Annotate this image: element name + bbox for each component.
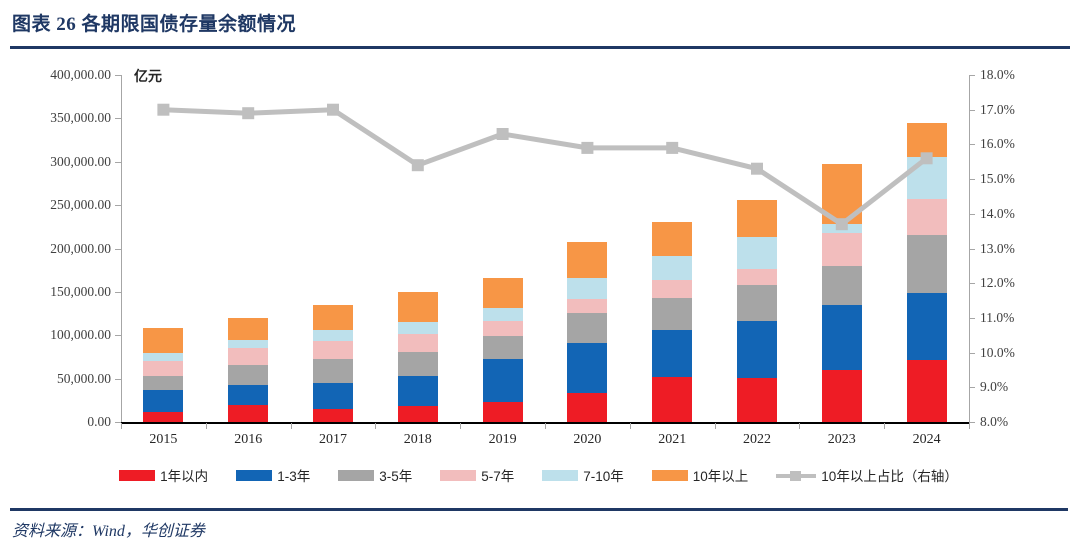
page-title: 图表 26 各期限国债存量余额情况	[12, 9, 296, 36]
x-axis-tick-label: 2023	[828, 432, 856, 448]
legend-item[interactable]: 1年以内	[119, 465, 208, 485]
legend-item[interactable]: 1-3年	[236, 465, 310, 485]
y-axis-right-tick-mark	[969, 283, 975, 284]
x-axis-tick-mark	[291, 423, 292, 429]
y-axis-right-tick-mark	[969, 179, 975, 180]
legend-item[interactable]: 3-5年	[338, 465, 412, 485]
y-axis-right-tick-label: 10.0%	[980, 345, 1015, 361]
y-axis-left-tick-label: 350,000.00	[50, 110, 111, 126]
line-marker[interactable]	[327, 104, 339, 116]
source-note: 资料来源：Wind，华创证券	[12, 517, 205, 541]
percentage-line-series	[121, 75, 969, 423]
y-axis-left-tick-label: 50,000.00	[57, 371, 111, 387]
x-axis-tick-label: 2021	[658, 432, 686, 448]
chart-canvas: 亿元 0.0050,000.00100,000.00150,000.00200,…	[8, 58, 1069, 498]
legend-item[interactable]: 7-10年	[542, 465, 624, 485]
legend-color-swatch-icon	[119, 470, 155, 481]
y-axis-left-tick-label: 0.00	[87, 414, 111, 430]
legend-color-swatch-icon	[542, 470, 578, 481]
legend-item-label: 3-5年	[379, 465, 412, 485]
x-axis-tick-mark	[545, 423, 546, 429]
y-axis-right-tick-mark	[969, 75, 975, 76]
chart-legend: 1年以内1-3年3-5年5-7年7-10年10年以上10年以上占比（右轴）	[8, 462, 1069, 488]
header-divider	[10, 46, 1070, 49]
y-axis-right-tick-mark	[969, 249, 975, 250]
line-marker[interactable]	[666, 142, 678, 154]
legend-item-label: 1年以内	[160, 465, 208, 485]
y-axis-left-tick-label: 300,000.00	[50, 154, 111, 170]
y-axis-right-tick-label: 13.0%	[980, 241, 1015, 257]
legend-item-label: 7-10年	[583, 465, 624, 485]
x-axis-tick-mark	[715, 423, 716, 429]
x-axis-tick-label: 2022	[743, 432, 771, 448]
x-axis-tick-label: 2015	[149, 432, 177, 448]
legend-item-label: 1-3年	[277, 465, 310, 485]
x-axis-tick-mark	[121, 423, 122, 429]
legend-color-swatch-icon	[236, 470, 272, 481]
line-marker[interactable]	[497, 128, 509, 140]
line-marker[interactable]	[157, 104, 169, 116]
y-axis-right-tick-label: 18.0%	[980, 67, 1015, 83]
legend-item[interactable]: 5-7年	[440, 465, 514, 485]
line-marker[interactable]	[751, 163, 763, 175]
legend-color-swatch-icon	[440, 470, 476, 481]
x-axis-tick-mark	[884, 423, 885, 429]
legend-item-label: 10年以上	[693, 465, 749, 485]
y-axis-left-tick-label: 200,000.00	[50, 241, 111, 257]
x-axis-tick-mark	[375, 423, 376, 429]
x-axis-tick-label: 2020	[573, 432, 601, 448]
y-axis-right-tick-mark	[969, 214, 975, 215]
y-axis-right-tick-label: 15.0%	[980, 171, 1015, 187]
x-axis-tick-mark	[460, 423, 461, 429]
x-axis-tick-label: 2019	[489, 432, 517, 448]
x-axis-tick-mark	[969, 423, 970, 429]
line-path	[163, 110, 926, 225]
y-axis-right-tick-label: 16.0%	[980, 136, 1015, 152]
y-axis-right-tick-mark	[969, 387, 975, 388]
legend-color-swatch-icon	[338, 470, 374, 481]
x-axis-tick-mark	[630, 423, 631, 429]
figure-header: 图表 26 各期限国债存量余额情况	[8, 4, 1069, 52]
y-axis-right-tick-label: 14.0%	[980, 206, 1015, 222]
y-axis-right-tick-mark	[969, 144, 975, 145]
y-axis-left-tick-label: 100,000.00	[50, 327, 111, 343]
y-axis-left-tick-label: 250,000.00	[50, 197, 111, 213]
x-axis-tick-label: 2024	[913, 432, 941, 448]
y-axis-right-tick-label: 9.0%	[980, 379, 1008, 395]
y-axis-right-tick-label: 17.0%	[980, 102, 1015, 118]
y-axis-right-tick-label: 12.0%	[980, 275, 1015, 291]
x-axis-tick-label: 2016	[234, 432, 262, 448]
y-axis-right-tick-mark	[969, 353, 975, 354]
legend-item[interactable]: 10年以上占比（右轴）	[776, 465, 958, 485]
legend-color-swatch-icon	[652, 470, 688, 481]
y-axis-right-tick-label: 8.0%	[980, 414, 1008, 430]
x-axis-tick-mark	[206, 423, 207, 429]
x-axis-tick-mark	[799, 423, 800, 429]
line-marker[interactable]	[242, 107, 254, 119]
y-axis-left-tick-label: 150,000.00	[50, 284, 111, 300]
legend-item-label: 5-7年	[481, 465, 514, 485]
line-marker[interactable]	[836, 218, 848, 230]
x-axis-tick-label: 2018	[404, 432, 432, 448]
line-marker[interactable]	[921, 152, 933, 164]
legend-item-label: 10年以上占比（右轴）	[821, 465, 958, 485]
x-axis-tick-label: 2017	[319, 432, 347, 448]
legend-item[interactable]: 10年以上	[652, 465, 749, 485]
line-marker[interactable]	[412, 159, 424, 171]
line-marker[interactable]	[581, 142, 593, 154]
y-axis-left-tick-label: 400,000.00	[50, 67, 111, 83]
y-axis-right-tick-label: 11.0%	[980, 310, 1014, 326]
y-axis-right-tick-mark	[969, 318, 975, 319]
legend-line-marker-icon	[776, 470, 816, 481]
y-axis-right-tick-mark	[969, 110, 975, 111]
footer-divider	[10, 508, 1068, 511]
